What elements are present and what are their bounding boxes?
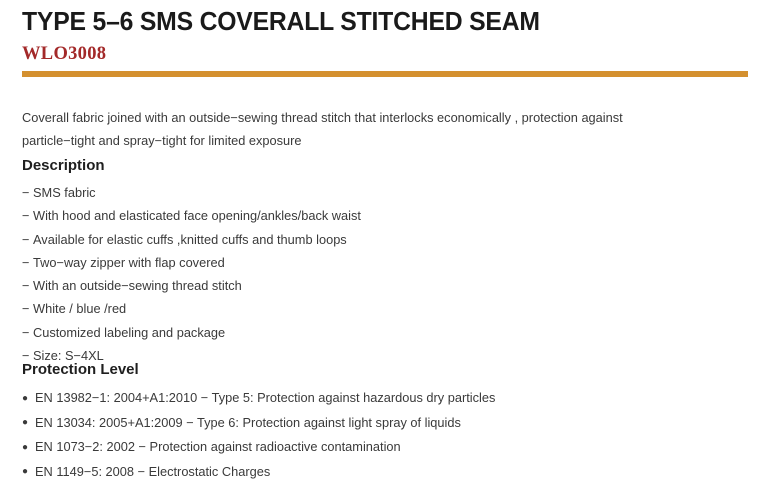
list-item-label: EN 13982−1: 2004+A1:2010 − Type 5: Prote… bbox=[35, 390, 495, 405]
protection-level-list: ●EN 13982−1: 2004+A1:2010 − Type 5: Prot… bbox=[22, 386, 495, 484]
list-item-label: White / blue /red bbox=[33, 301, 126, 316]
list-item: −Customized labeling and package bbox=[22, 321, 361, 344]
list-item: −Available for elastic cuffs ,knitted cu… bbox=[22, 228, 361, 251]
list-item-label: EN 13034: 2005+A1:2009 − Type 6: Protect… bbox=[35, 415, 461, 430]
list-item: ●EN 13982−1: 2004+A1:2010 − Type 5: Prot… bbox=[22, 386, 495, 411]
description-heading: Description bbox=[22, 157, 105, 174]
list-item: ●EN 13034: 2005+A1:2009 − Type 6: Protec… bbox=[22, 411, 495, 436]
product-spec-page: TYPE 5–6 SMS COVERALL STITCHED SEAM WLO3… bbox=[0, 0, 765, 487]
list-item-label: SMS fabric bbox=[33, 185, 96, 200]
bullet-marker-icon: ● bbox=[22, 387, 35, 411]
dash-marker-icon: − bbox=[22, 321, 33, 344]
list-item-label: Two−way zipper with flap covered bbox=[33, 255, 225, 270]
list-item: −With hood and elasticated face opening/… bbox=[22, 204, 361, 227]
list-item: −SMS fabric bbox=[22, 181, 361, 204]
list-item-label: EN 1073−2: 2002 − Protection against rad… bbox=[35, 439, 401, 454]
dash-marker-icon: − bbox=[22, 228, 33, 251]
intro-paragraph: Coverall fabric joined with an outside−s… bbox=[22, 106, 748, 152]
intro-line-2: particle−tight and spray−tight for limit… bbox=[22, 129, 748, 152]
list-item: −Two−way zipper with flap covered bbox=[22, 251, 361, 274]
list-item-label: With an outside−sewing thread stitch bbox=[33, 278, 242, 293]
dash-marker-icon: − bbox=[22, 251, 33, 274]
list-item: −White / blue /red bbox=[22, 297, 361, 320]
list-item: ●EN 1073−2: 2002 − Protection against ra… bbox=[22, 435, 495, 460]
list-item-label: With hood and elasticated face opening/a… bbox=[33, 208, 361, 223]
header-divider-rule bbox=[22, 71, 748, 77]
list-item: −With an outside−sewing thread stitch bbox=[22, 274, 361, 297]
bullet-marker-icon: ● bbox=[22, 411, 35, 435]
bullet-marker-icon: ● bbox=[22, 460, 35, 484]
list-item: ●EN 1149−5: 2008 − Electrostatic Charges bbox=[22, 460, 495, 485]
intro-line-1: Coverall fabric joined with an outside−s… bbox=[22, 110, 623, 125]
dash-marker-icon: − bbox=[22, 297, 33, 320]
product-code: WLO3008 bbox=[22, 44, 106, 65]
page-title: TYPE 5–6 SMS COVERALL STITCHED SEAM bbox=[22, 8, 540, 37]
list-item-label: Available for elastic cuffs ,knitted cuf… bbox=[33, 232, 347, 247]
protection-level-heading: Protection Level bbox=[22, 361, 139, 378]
dash-marker-icon: − bbox=[22, 181, 33, 204]
dash-marker-icon: − bbox=[22, 204, 33, 227]
bullet-marker-icon: ● bbox=[22, 436, 35, 460]
list-item-label: EN 1149−5: 2008 − Electrostatic Charges bbox=[35, 464, 270, 479]
description-list: −SMS fabric −With hood and elasticated f… bbox=[22, 181, 361, 367]
list-item-label: Customized labeling and package bbox=[33, 325, 225, 340]
dash-marker-icon: − bbox=[22, 274, 33, 297]
